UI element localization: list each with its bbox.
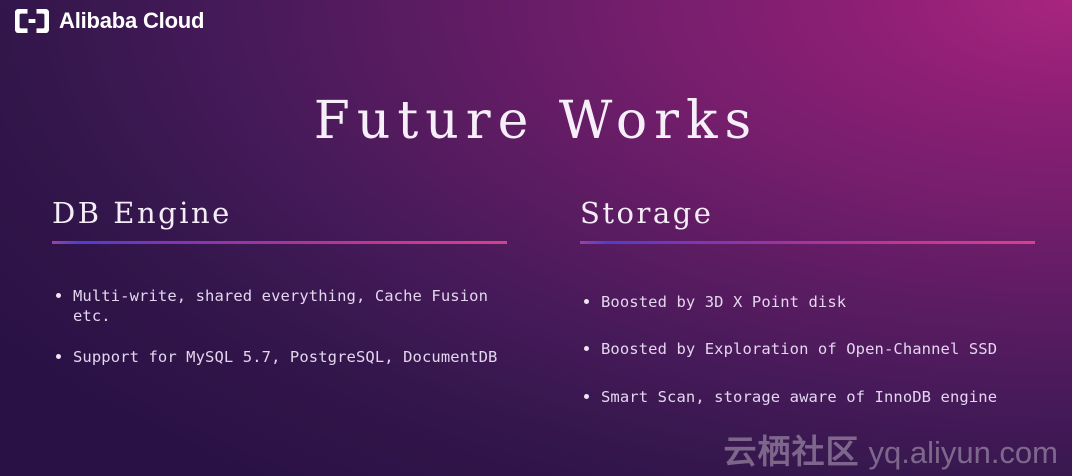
watermark-url: yq.aliyun.com: [868, 437, 1058, 468]
bullet-list: Multi-write, shared everything, Cache Fu…: [52, 286, 507, 368]
alibaba-cloud-bracket-icon: [14, 8, 50, 34]
watermark-community: 云栖社区: [723, 435, 859, 468]
list-item: Boosted by Exploration of Open-Channel S…: [580, 339, 1035, 360]
list-item: Support for MySQL 5.7, PostgreSQL, Docum…: [52, 347, 507, 368]
column-heading: Storage: [580, 196, 1035, 241]
heading-underline: [52, 241, 507, 244]
column-db-engine: DB Engine Multi-write, shared everything…: [52, 196, 507, 368]
page-title: Future Works: [0, 93, 1072, 150]
list-item: Boosted by 3D X Point disk: [580, 292, 1035, 313]
column-storage: Storage Boosted by 3D X Point disk Boost…: [580, 196, 1035, 408]
bullet-list: Boosted by 3D X Point disk Boosted by Ex…: [580, 292, 1035, 408]
column-heading: DB Engine: [52, 196, 507, 241]
list-item: Multi-write, shared everything, Cache Fu…: [52, 286, 507, 327]
brand-name: Alibaba Cloud: [59, 10, 204, 32]
heading-underline: [580, 241, 1035, 244]
brand-logo: Alibaba Cloud: [14, 8, 204, 34]
list-item: Smart Scan, storage aware of InnoDB engi…: [580, 387, 1035, 408]
watermark: 云栖社区 yq.aliyun.com: [723, 435, 1058, 468]
slide-canvas: Alibaba Cloud Future Works DB Engine Mul…: [0, 0, 1072, 476]
